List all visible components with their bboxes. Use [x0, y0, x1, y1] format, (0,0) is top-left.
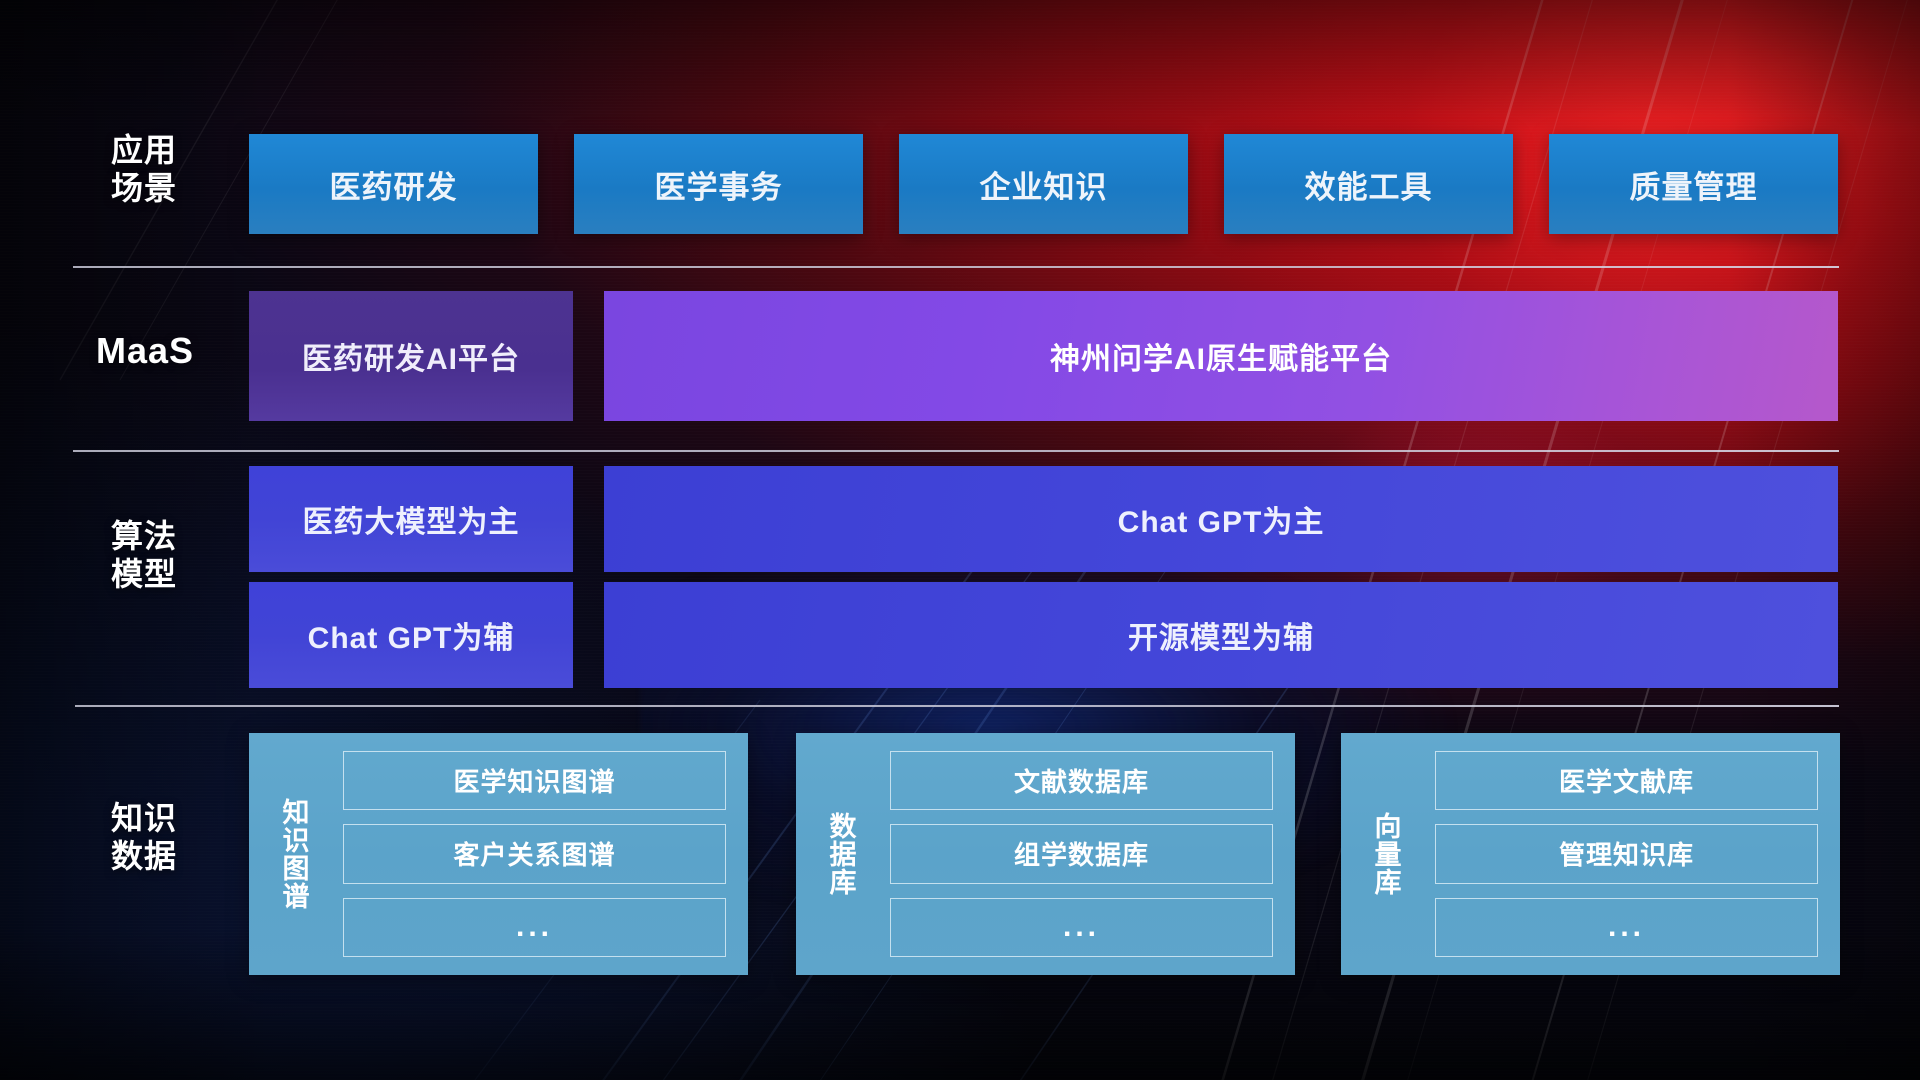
row-label-application-line2: 场景	[78, 170, 210, 208]
app-box-drug-rd[interactable]: 医药研发	[249, 134, 538, 234]
row-label-knowledge: 知识 数据	[78, 800, 210, 876]
app-box-medical-affairs[interactable]: 医学事务	[574, 134, 863, 234]
knowledge-item-medical-literature[interactable]: 医学文献库	[1435, 751, 1818, 810]
knowledge-panel-database[interactable]: 数据库 文献数据库 组学数据库 ...	[796, 733, 1295, 975]
maas-box-shenzhou-wenxue-platform[interactable]: 神州问学AI原生赋能平台	[604, 291, 1838, 421]
row-label-algorithm-line2: 模型	[78, 556, 210, 594]
divider-application-maas	[73, 266, 1839, 268]
row-label-algorithm: 算法 模型	[78, 518, 210, 594]
knowledge-panel-graph[interactable]: 知识图谱 医学知识图谱 客户关系图谱 ...	[249, 733, 748, 975]
app-box-efficiency-tools[interactable]: 效能工具	[1224, 134, 1513, 234]
knowledge-panel-database-items: 文献数据库 组学数据库 ...	[884, 733, 1295, 975]
knowledge-panel-graph-label: 知识图谱	[249, 733, 337, 975]
row-label-knowledge-line2: 数据	[78, 838, 210, 876]
row-label-application-line1: 应用	[78, 132, 210, 170]
knowledge-panel-vector-label: 向量库	[1341, 733, 1429, 975]
knowledge-panel-database-label: 数据库	[796, 733, 884, 975]
row-label-algorithm-line1: 算法	[78, 518, 210, 556]
algo-box-chatgpt-primary[interactable]: Chat GPT为主	[604, 466, 1838, 572]
row-label-application: 应用 场景	[78, 132, 210, 208]
divider-maas-algorithm	[73, 450, 1839, 452]
knowledge-item-customer-graph[interactable]: 客户关系图谱	[343, 824, 726, 883]
algo-box-opensource-secondary[interactable]: 开源模型为辅	[604, 582, 1838, 688]
row-label-knowledge-line1: 知识	[78, 800, 210, 838]
algo-box-drug-large-model-primary[interactable]: 医药大模型为主	[249, 466, 573, 572]
maas-box-drug-rd-ai-platform[interactable]: 医药研发AI平台	[249, 291, 573, 421]
knowledge-item-graph-more[interactable]: ...	[343, 898, 726, 957]
knowledge-panel-vector-items: 医学文献库 管理知识库 ...	[1429, 733, 1840, 975]
knowledge-item-vector-more[interactable]: ...	[1435, 898, 1818, 957]
knowledge-item-medical-graph[interactable]: 医学知识图谱	[343, 751, 726, 810]
knowledge-panel-graph-items: 医学知识图谱 客户关系图谱 ...	[337, 733, 748, 975]
knowledge-item-omics-db[interactable]: 组学数据库	[890, 824, 1273, 883]
row-label-maas: MaaS	[72, 330, 218, 372]
divider-algorithm-knowledge	[75, 705, 1839, 707]
knowledge-item-literature-db[interactable]: 文献数据库	[890, 751, 1273, 810]
app-box-enterprise-knowledge[interactable]: 企业知识	[899, 134, 1188, 234]
knowledge-item-management-knowledge[interactable]: 管理知识库	[1435, 824, 1818, 883]
algo-box-chatgpt-secondary[interactable]: Chat GPT为辅	[249, 582, 573, 688]
app-box-quality-management[interactable]: 质量管理	[1549, 134, 1838, 234]
slide-canvas: 向量库 应用 场景 医药研发 医学事务 企业知识 效能工具 质量管理 MaaS …	[0, 0, 1920, 1080]
knowledge-item-database-more[interactable]: ...	[890, 898, 1273, 957]
knowledge-panel-vector[interactable]: 向量库 医学文献库 管理知识库 ...	[1341, 733, 1840, 975]
